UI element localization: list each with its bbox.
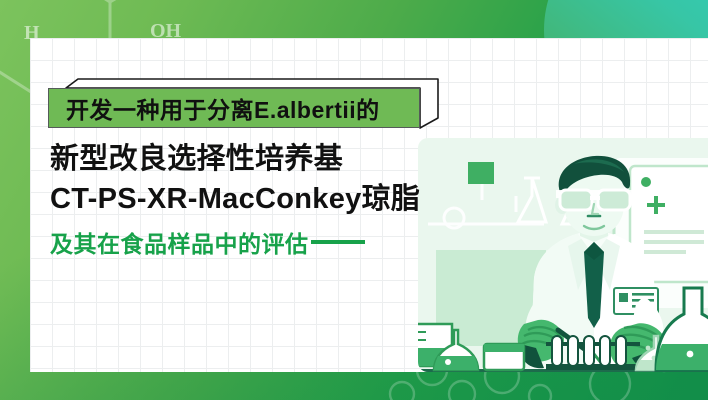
poster-canvas: H OH	[0, 0, 708, 400]
headline-line-2: 新型改良选择性培养基	[40, 139, 470, 179]
headline-line-4: 及其在食品样品中的评估	[40, 225, 470, 259]
headline-block: 开发一种用于分离E.albertii的 新型改良选择性培养基 CT-PS-XR-…	[40, 78, 470, 259]
title-tag-box: 开发一种用于分离E.albertii的	[48, 78, 439, 129]
headline-trailing-dash	[311, 240, 365, 244]
headline-line-4-text: 及其在食品样品中的评估	[50, 225, 309, 259]
headline-line-3: CT-PS-XR-MacConkey琼脂	[40, 179, 470, 219]
headline-tag-text: 开发一种用于分离E.albertii的	[48, 88, 420, 128]
